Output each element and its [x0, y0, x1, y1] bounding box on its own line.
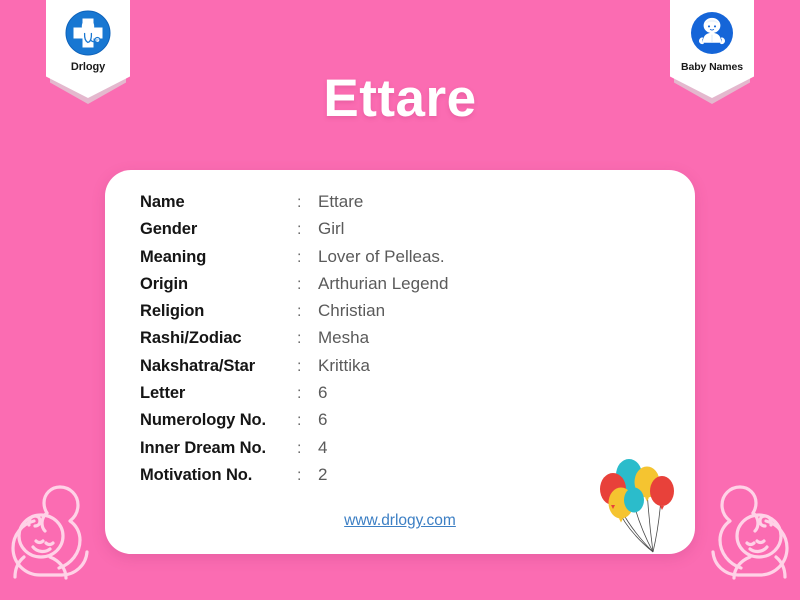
row-label: Motivation No.: [140, 466, 297, 485]
row-separator: :: [297, 467, 318, 485]
table-row: Meaning : Lover of Pelleas.: [140, 247, 448, 274]
site-url-link[interactable]: www.drlogy.com: [105, 512, 695, 530]
detail-table: Name : Ettare Gender : Girl Meaning : Lo…: [140, 192, 448, 492]
row-label: Rashi/Zodiac: [140, 329, 297, 348]
table-row: Letter : 6: [140, 383, 448, 410]
table-row: Origin : Arthurian Legend: [140, 274, 448, 301]
page-title: Ettare: [0, 68, 800, 129]
row-value: 4: [318, 438, 327, 458]
table-row: Name : Ettare: [140, 192, 448, 219]
badge-label-baby-names: Baby Names: [681, 61, 743, 73]
table-row: Rashi/Zodiac : Mesha: [140, 328, 448, 355]
row-separator: :: [297, 276, 318, 294]
row-label: Religion: [140, 302, 297, 321]
table-row: Religion : Christian: [140, 301, 448, 328]
doctor-medical-cross-icon: P: [64, 9, 112, 57]
table-row: Inner Dream No. : 4: [140, 438, 448, 465]
mother-and-baby-icon: [0, 469, 104, 600]
row-value: 6: [318, 383, 327, 403]
table-row: Numerology No. : 6: [140, 410, 448, 437]
row-label: Meaning: [140, 248, 297, 267]
row-value: Arthurian Legend: [318, 274, 448, 294]
row-value: Krittika: [318, 356, 370, 376]
row-separator: :: [297, 358, 318, 376]
row-label: Name: [140, 193, 297, 212]
row-separator: :: [297, 221, 318, 239]
balloons-icon: [591, 448, 687, 554]
row-label: Numerology No.: [140, 411, 297, 430]
row-separator: :: [297, 330, 318, 348]
row-value: 6: [318, 410, 327, 430]
row-separator: :: [297, 249, 318, 267]
baby-icon: [688, 9, 736, 57]
row-value: Mesha: [318, 328, 369, 348]
row-value: Christian: [318, 301, 385, 321]
table-row: Nakshatra/Star : Krittika: [140, 356, 448, 383]
mother-and-baby-icon: [696, 469, 800, 600]
row-label: Gender: [140, 220, 297, 239]
badge-label-drlogy: Drlogy: [71, 61, 105, 73]
name-details-card: Name : Ettare Gender : Girl Meaning : Lo…: [105, 170, 695, 554]
badge-content: Baby Names: [681, 0, 743, 73]
row-value: Lover of Pelleas.: [318, 247, 445, 267]
table-row: Gender : Girl: [140, 219, 448, 246]
row-label: Origin: [140, 275, 297, 294]
row-label: Inner Dream No.: [140, 439, 297, 458]
row-value: Ettare: [318, 192, 363, 212]
row-label: Letter: [140, 384, 297, 403]
row-separator: :: [297, 303, 318, 321]
row-value: Girl: [318, 219, 344, 239]
badge-content: P Drlogy: [64, 0, 112, 73]
row-separator: :: [297, 194, 318, 212]
row-label: Nakshatra/Star: [140, 357, 297, 376]
table-row: Motivation No. : 2: [140, 465, 448, 492]
row-separator: :: [297, 440, 318, 458]
row-separator: :: [297, 412, 318, 430]
row-separator: :: [297, 385, 318, 403]
row-value: 2: [318, 465, 327, 485]
